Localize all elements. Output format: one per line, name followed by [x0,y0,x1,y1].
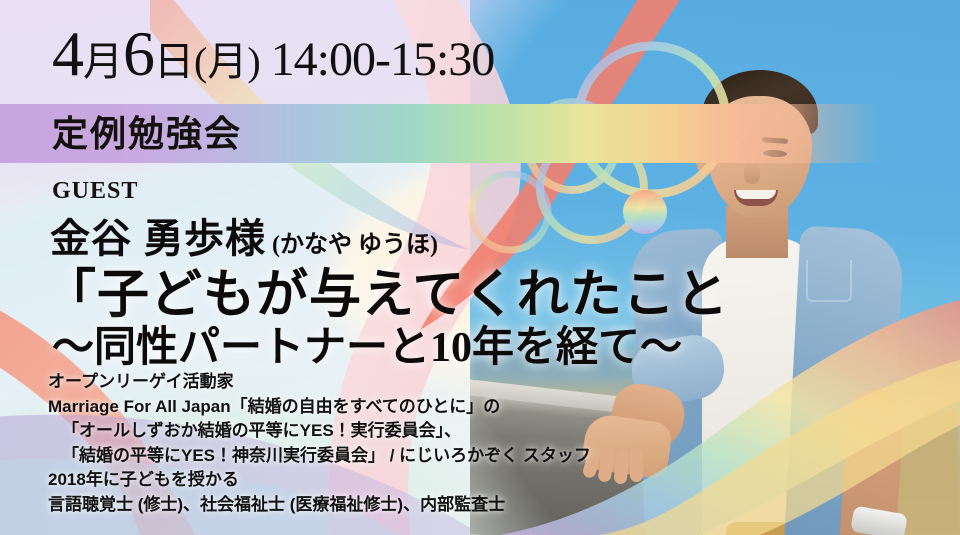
talk-title-sub: 〜同性パートナーと10年を経て〜 [52,313,682,374]
bio-line: 「結婚の平等にYES！神奈川実行委員会」 / にじいろかぞく スタッフ [48,444,591,469]
text-layer: 4月6日(月)14:00-15:30 定例勉強会 GUEST 金谷 勇歩様(かな… [0,0,960,535]
date-day-number: 6 [123,18,154,89]
guest-bio: オープンリーゲイ活動家 Marriage For All Japan「結婚の自由… [48,370,591,517]
event-time: 14:00-15:30 [271,33,495,86]
bio-line: 「オールしずおか結婚の平等にYES！実行委員会」、 [48,419,591,444]
bio-line: Marriage For All Japan「結婚の自由をすべてのひとに」の [48,395,591,420]
event-poster: 4月6日(月)14:00-15:30 定例勉強会 GUEST 金谷 勇歩様(かな… [0,0,960,535]
event-date-time: 4月6日(月)14:00-15:30 [52,22,494,86]
date-month-unit: 月 [83,39,123,84]
bio-line: 2018年に子どもを授かる [48,468,591,493]
bio-line: オープンリーゲイ活動家 [48,370,591,395]
section-title: 定例勉強会 [52,112,242,156]
date-month-number: 4 [52,18,83,89]
guest-kicker: GUEST [52,178,138,205]
date-day-unit: 日 [154,39,194,84]
date-weekday: (月) [194,39,261,84]
bio-line: 言語聴覚士 (修士)、社会福祉士 (医療福祉修士)、内部監査士 [48,493,591,518]
